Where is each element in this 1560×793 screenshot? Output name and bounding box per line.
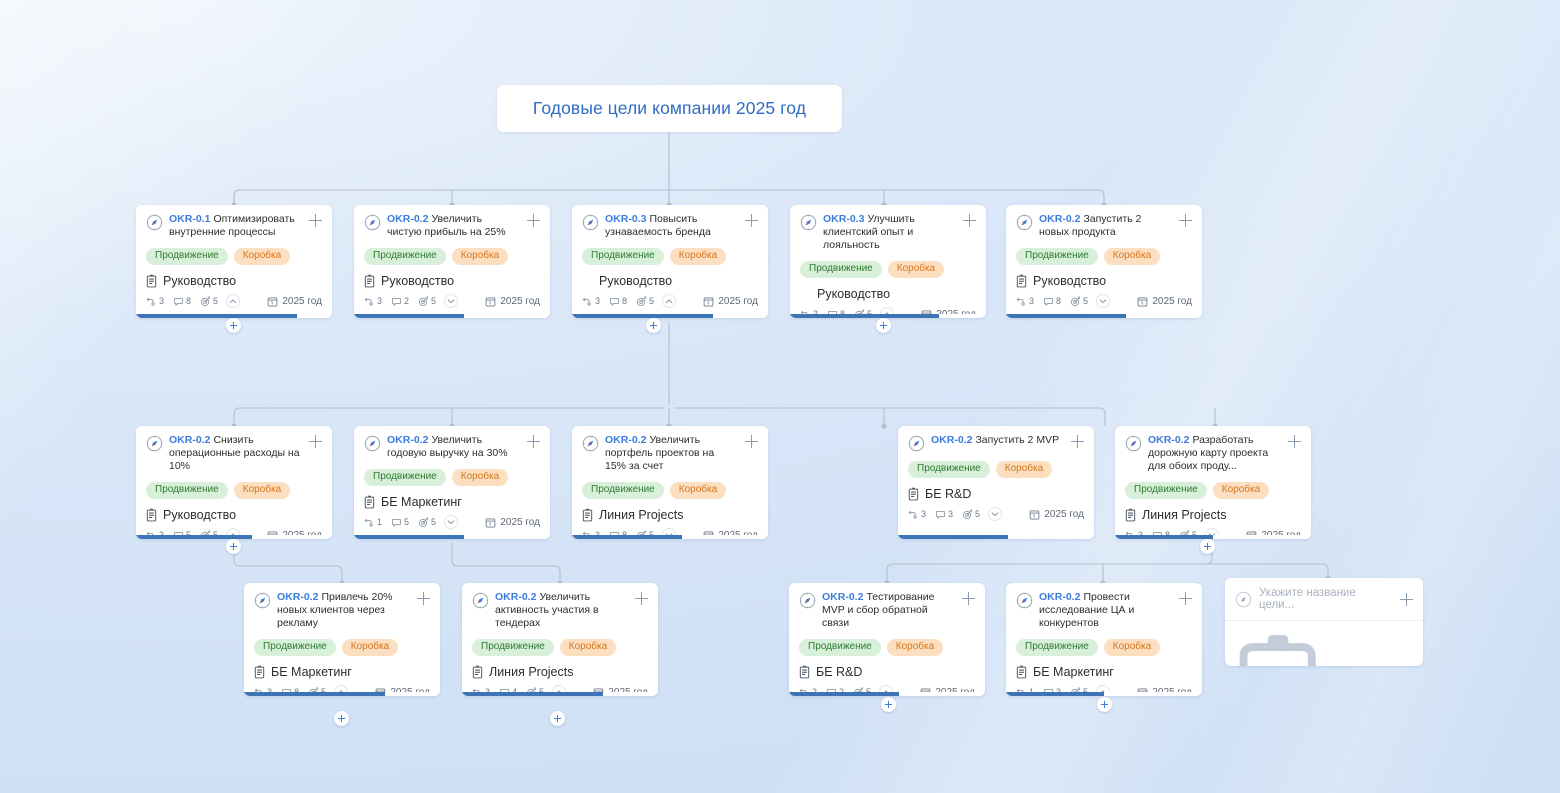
shares-count[interactable]: 3 (1016, 296, 1034, 307)
tag-promotion[interactable]: Продвижение (582, 248, 664, 265)
goal-period: 2025 год (485, 296, 540, 307)
goal-card-title: OKR-0.2Тестирование MVP и сбор обратной … (822, 591, 956, 630)
chevron-down-icon (446, 518, 456, 527)
tag-box[interactable]: Коробка (888, 261, 944, 278)
goal-unit-row: Руководство (146, 508, 322, 522)
goal-unit-label: Линия Projects (1142, 508, 1226, 522)
tag-box[interactable]: Коробка (670, 248, 726, 265)
goal-code: OKR-0.2 (169, 434, 210, 446)
add-goal-button[interactable] (550, 711, 565, 726)
targets-count[interactable]: 5 (1070, 296, 1088, 307)
goal-unit-label: БЕ Маркетинг (1033, 665, 1114, 679)
comments-count[interactable]: 2 (391, 296, 409, 307)
structure-unit-icon (364, 274, 375, 288)
plus-icon[interactable] (1400, 593, 1413, 606)
shares-value: 3 (921, 509, 926, 519)
shares-count[interactable]: 3 (364, 296, 382, 307)
comments-value: 5 (404, 517, 409, 527)
goal-card[interactable]: OKR-0.1Оптимизировать внутренние процесс… (136, 205, 332, 318)
goal-card-title: OKR-0.2Увеличить активность участия в те… (495, 591, 629, 630)
goal-card[interactable]: OKR-0.2Снизить операционные расходы на 1… (136, 426, 332, 539)
goal-card-title: OKR-0.2Разработать дорожную карту проект… (1148, 434, 1282, 473)
new-goal-name-placeholder: Укажите название цели... (1259, 587, 1386, 611)
goal-progress-bar (898, 535, 1094, 539)
add-subgoal-icon[interactable] (962, 592, 975, 605)
goal-code: OKR-0.2 (387, 434, 428, 446)
structure-unit-icon (1125, 508, 1136, 522)
goal-card-title: OKR-0.2Запустить 2 новых продукта (1039, 213, 1173, 239)
tag-promotion[interactable]: Продвижение (582, 482, 664, 499)
target-compass-icon (254, 592, 271, 609)
structure-unit-icon (254, 665, 265, 679)
shares-value: 3 (595, 296, 600, 306)
comments-count[interactable]: 8 (173, 296, 191, 307)
goal-period-label: 2025 год (1044, 509, 1084, 520)
add-subgoal-icon[interactable] (417, 592, 430, 605)
goal-period-label: 2025 год (282, 296, 322, 307)
goal-unit-label: Руководство (163, 508, 236, 522)
add-subgoal-icon[interactable] (527, 435, 540, 448)
goal-card-title: OKR-0.2Снизить операционные расходы на 1… (169, 434, 303, 473)
share-icon (582, 296, 593, 307)
tag-box[interactable]: Коробка (234, 248, 290, 265)
goal-code: OKR-0.2 (931, 434, 972, 446)
structure-unit-icon (582, 508, 593, 522)
targets-value: 5 (1083, 296, 1088, 306)
tag-promotion[interactable]: Продвижение (146, 482, 228, 499)
okr-tree-canvas: Годовые цели компании 2025 год OKR-0.1Оп… (0, 0, 1560, 793)
goal-tags: ПродвижениеКоробка (254, 639, 430, 656)
structure-unit-icon (472, 665, 483, 679)
add-goal-button[interactable] (226, 318, 241, 333)
shares-value: 3 (159, 296, 164, 306)
goal-unit-row: Руководство (364, 274, 540, 288)
comments-value: 8 (622, 296, 627, 306)
goal-meta-row: 3252025 год (364, 294, 540, 308)
calendar-icon (703, 296, 714, 307)
target-compass-icon (1125, 435, 1142, 452)
goal-period: 2025 год (703, 296, 758, 307)
add-subgoal-icon[interactable] (309, 214, 322, 227)
collapse-toggle[interactable] (444, 515, 458, 529)
shares-count[interactable]: 3 (146, 296, 164, 307)
goal-card-header: OKR-0.2Запустить 2 MVP (908, 434, 1084, 452)
goal-unit-row: БЕ Маркетинг (364, 495, 540, 509)
goal-card[interactable]: OKR-0.2Тестирование MVP и сбор обратной … (789, 583, 985, 696)
goal-progress-bar (354, 535, 550, 539)
goal-period: 2025 год (1029, 509, 1084, 520)
goal-card-header: OKR-0.2Тестирование MVP и сбор обратной … (799, 591, 975, 630)
new-goal-name-row[interactable]: Укажите название цели... (1225, 578, 1423, 620)
structure-unit-icon (799, 665, 810, 679)
goal-period-label: 2025 год (718, 296, 758, 307)
calendar-icon (267, 296, 278, 307)
target-compass-icon (472, 592, 489, 609)
add-subgoal-icon[interactable] (1071, 435, 1084, 448)
target-icon (418, 296, 429, 307)
add-goal-button[interactable] (334, 711, 349, 726)
goal-card[interactable]: OKR-0.2Увеличить портфель проектов на 15… (572, 426, 768, 539)
structure-unit-icon (1235, 630, 1320, 666)
tag-box[interactable]: Коробка (887, 639, 943, 656)
goal-card-header: OKR-0.2Увеличить годовую выручку на 30% (364, 434, 540, 460)
add-subgoal-icon[interactable] (527, 214, 540, 227)
goal-card[interactable]: OKR-0.2Привлечь 20% новых клиентов через… (244, 583, 440, 696)
goal-card-header: OKR-0.2Провести исследование ЦА и конкур… (1016, 591, 1192, 630)
collapse-toggle[interactable] (662, 294, 676, 308)
comment-icon (173, 296, 184, 307)
add-subgoal-icon[interactable] (745, 214, 758, 227)
goal-card-header: OKR-0.2Увеличить чистую прибыль на 25% (364, 213, 540, 239)
share-icon (1016, 296, 1027, 307)
goal-tags: ПродвижениеКоробка (472, 639, 648, 656)
share-icon (364, 517, 375, 528)
goal-card[interactable]: OKR-0.2Увеличить годовую выручку на 30%П… (354, 426, 550, 539)
goal-tags: ПродвижениеКоробка (364, 248, 540, 265)
goal-card-header: OKR-0.3Улучшить клиентский опыт и лояльн… (800, 213, 976, 252)
goal-tags: ПродвижениеКоробка (364, 469, 540, 486)
tag-promotion[interactable]: Продвижение (146, 248, 228, 265)
goal-tags: ПродвижениеКоробка (799, 639, 975, 656)
targets-count[interactable]: 5 (962, 509, 980, 520)
tag-promotion[interactable]: Продвижение (908, 461, 990, 478)
goal-tags: ПродвижениеКоробка (146, 248, 322, 265)
structure-unit-icon (146, 508, 157, 522)
tag-promotion[interactable]: Продвижение (364, 248, 446, 265)
goal-unit-row: БЕ R&D (799, 665, 975, 679)
goal-progress-bar (462, 692, 658, 696)
goal-unit-label: БЕ Маркетинг (271, 665, 352, 679)
goal-tags: ПродвижениеКоробка (582, 482, 758, 499)
goal-unit-row: Руководство (1016, 274, 1192, 288)
goal-unit-row: Линия Projects (582, 508, 758, 522)
comment-icon (391, 517, 402, 528)
chevron-down-icon (446, 297, 456, 306)
goal-code: OKR-0.3 (605, 213, 646, 225)
goal-meta-row: 3352025 год (908, 507, 1084, 521)
goal-card[interactable]: OKR-0.2Разработать дорожную карту проект… (1115, 426, 1311, 539)
goal-unit-label: БЕ R&D (816, 665, 862, 679)
goal-card[interactable]: OKR-0.3Повысить узнаваемость брендаПродв… (572, 205, 768, 318)
target-compass-icon (364, 435, 381, 452)
comments-count[interactable]: 5 (391, 517, 409, 528)
add-goal-button[interactable] (1097, 697, 1112, 712)
target-compass-icon (146, 435, 163, 452)
goal-code: OKR-0.2 (387, 213, 428, 225)
goal-unit-row: БЕ Маркетинг (1016, 665, 1192, 679)
goal-unit-label: Руководство (817, 287, 890, 301)
goal-tags: ПродвижениеКоробка (146, 482, 322, 499)
goal-card[interactable]: OKR-0.3Улучшить клиентский опыт и лояльн… (790, 205, 986, 318)
target-compass-icon (800, 214, 817, 231)
comment-icon (935, 509, 946, 520)
tag-box[interactable]: Коробка (1213, 482, 1269, 499)
structure-unit-icon (146, 274, 157, 288)
goal-card-header: OKR-0.3Повысить узнаваемость бренда (582, 213, 758, 239)
goal-code: OKR-0.2 (1039, 213, 1080, 225)
goal-card-title: OKR-0.2Увеличить годовую выручку на 30% (387, 434, 521, 460)
goal-code: OKR-0.2 (277, 591, 318, 603)
goal-card-header: OKR-0.2Разработать дорожную карту проект… (1125, 434, 1301, 473)
goal-code: OKR-0.2 (495, 591, 536, 603)
goal-unit-label: Линия Projects (599, 508, 683, 522)
goal-unit-label: Руководство (1033, 274, 1106, 288)
goal-tags: ПродвижениеКоробка (1125, 482, 1301, 499)
goal-card[interactable]: OKR-0.2Увеличить активность участия в те… (462, 583, 658, 696)
tag-promotion[interactable]: Продвижение (799, 639, 881, 656)
add-subgoal-icon[interactable] (309, 435, 322, 448)
goal-card-header: OKR-0.2Привлечь 20% новых клиентов через… (254, 591, 430, 630)
new-goal-unit-row[interactable]: Выберите структурную единицу... (1225, 620, 1423, 666)
shares-value: 1 (377, 517, 382, 527)
comments-count[interactable]: 8 (1043, 296, 1061, 307)
goal-meta-row: 3852025 год (146, 294, 322, 308)
shares-count[interactable]: 1 (364, 517, 382, 528)
goal-period: 2025 год (1137, 296, 1192, 307)
root-goal-title: Годовые цели компании 2025 год (533, 98, 806, 119)
tag-promotion[interactable]: Продвижение (472, 639, 554, 656)
share-icon (146, 296, 157, 307)
tag-promotion[interactable]: Продвижение (254, 639, 336, 656)
goal-progress-bar (572, 535, 768, 539)
shares-count[interactable]: 3 (908, 509, 926, 520)
shares-value: 3 (1029, 296, 1034, 306)
goal-unit-row: Руководство (800, 287, 976, 301)
chevron-down-icon (1098, 297, 1108, 306)
comment-icon (609, 296, 620, 307)
goal-unit-row: Руководство (146, 274, 322, 288)
targets-value: 5 (975, 509, 980, 519)
target-icon (200, 296, 211, 307)
target-compass-icon (146, 214, 163, 231)
goal-card-title: OKR-0.2Увеличить чистую прибыль на 25% (387, 213, 521, 239)
goal-card-title: OKR-0.1Оптимизировать внутренние процесс… (169, 213, 303, 239)
goal-progress-bar (790, 314, 986, 318)
goal-tags: ПродвижениеКоробка (1016, 639, 1192, 656)
goal-unit-row: Руководство (582, 274, 758, 288)
goal-period-label: 2025 год (1152, 296, 1192, 307)
goal-card-header: OKR-0.2Увеличить активность участия в те… (472, 591, 648, 630)
add-subgoal-icon[interactable] (745, 435, 758, 448)
goal-period-label: 2025 год (500, 517, 540, 528)
target-icon (962, 509, 973, 520)
goal-code: OKR-0.2 (605, 434, 646, 446)
goal-progress-bar (1006, 314, 1202, 318)
goal-card-title: OKR-0.2Привлечь 20% новых клиентов через… (277, 591, 411, 630)
goal-card-header: OKR-0.2Увеличить портфель проектов на 15… (582, 434, 758, 473)
add-subgoal-icon[interactable] (1179, 592, 1192, 605)
collapse-toggle[interactable] (1096, 294, 1110, 308)
goal-progress-bar (1006, 692, 1202, 696)
goal-card-header: OKR-0.1Оптимизировать внутренние процесс… (146, 213, 322, 239)
goal-card-title: OKR-0.3Улучшить клиентский опыт и лояльн… (823, 213, 957, 252)
share-icon (364, 296, 375, 307)
new-goal-card[interactable]: Укажите название цели... Выберите структ… (1225, 578, 1423, 666)
chevron-down-icon (990, 510, 1000, 519)
add-goal-button[interactable] (881, 697, 896, 712)
goal-unit-label: Руководство (599, 274, 672, 288)
goal-code: OKR-0.1 (169, 213, 210, 225)
goal-card[interactable]: OKR-0.2Увеличить чистую прибыль на 25%Пр… (354, 205, 550, 318)
structure-unit-icon (364, 495, 375, 509)
target-compass-icon (908, 435, 925, 452)
goal-unit-row: Линия Projects (472, 665, 648, 679)
goal-progress-bar (1115, 535, 1311, 539)
add-subgoal-icon[interactable] (1288, 435, 1301, 448)
goal-period: 2025 год (267, 296, 322, 307)
goal-card[interactable]: OKR-0.2Запустить 2 новых продуктаПродвиж… (1006, 205, 1202, 318)
goal-card[interactable]: OKR-0.2Провести исследование ЦА и конкур… (1006, 583, 1202, 696)
targets-value: 5 (431, 517, 436, 527)
goal-tags: ПродвижениеКоробка (1016, 248, 1192, 265)
shares-value: 3 (377, 296, 382, 306)
comments-value: 8 (186, 296, 191, 306)
goal-tags: ПродвижениеКоробка (582, 248, 758, 265)
comments-count[interactable]: 8 (609, 296, 627, 307)
tag-box[interactable]: Коробка (670, 482, 726, 499)
structure-unit-icon (1016, 665, 1027, 679)
target-compass-icon (582, 435, 599, 452)
tag-box[interactable]: Коробка (234, 482, 290, 499)
calendar-icon (485, 517, 496, 528)
calendar-icon (1029, 509, 1040, 520)
tag-box[interactable]: Коробка (560, 639, 616, 656)
goal-unit-label: Руководство (163, 274, 236, 288)
add-goal-button[interactable] (646, 318, 661, 333)
target-compass-icon (364, 214, 381, 231)
goal-unit-label: БЕ Маркетинг (381, 495, 462, 509)
goal-card-title: OKR-0.2Запустить 2 MVP (931, 434, 1065, 447)
comments-value: 8 (1056, 296, 1061, 306)
target-compass-icon (582, 214, 599, 231)
comments-count[interactable]: 3 (935, 509, 953, 520)
tag-promotion[interactable]: Продвижение (800, 261, 882, 278)
add-goal-button[interactable] (226, 539, 241, 554)
target-icon (418, 517, 429, 528)
comment-icon (1043, 296, 1054, 307)
tag-promotion[interactable]: Продвижение (1125, 482, 1207, 499)
goal-progress-bar (789, 692, 985, 696)
goal-tags: ПродвижениеКоробка (800, 261, 976, 278)
collapse-toggle[interactable] (226, 294, 240, 308)
targets-value: 5 (431, 296, 436, 306)
target-icon (636, 296, 647, 307)
goal-card-header: OKR-0.2Запустить 2 новых продукта (1016, 213, 1192, 239)
goal-unit-label: Руководство (381, 274, 454, 288)
shares-count[interactable]: 3 (582, 296, 600, 307)
collapse-toggle[interactable] (988, 507, 1002, 521)
goal-title-text: Запустить 2 MVP (975, 434, 1059, 446)
tag-box[interactable]: Коробка (996, 461, 1052, 478)
target-icon (1070, 296, 1081, 307)
tag-promotion[interactable]: Продвижение (364, 469, 446, 486)
goal-card-title: OKR-0.2Увеличить портфель проектов на 15… (605, 434, 739, 473)
goal-meta-row: 3852025 год (1016, 294, 1192, 308)
goal-tags: ПродвижениеКоробка (908, 461, 1084, 478)
goal-unit-label: БЕ R&D (925, 487, 971, 501)
goal-meta-row: 1552025 год (364, 515, 540, 529)
target-compass-icon (1016, 214, 1033, 231)
add-subgoal-icon[interactable] (963, 214, 976, 227)
goal-card[interactable]: OKR-0.2Запустить 2 MVPПродвижениеКоробка… (898, 426, 1094, 539)
chevron-up-icon (664, 297, 674, 306)
add-subgoal-icon[interactable] (1179, 214, 1192, 227)
calendar-icon (485, 296, 496, 307)
targets-count[interactable]: 5 (418, 517, 436, 528)
targets-count[interactable]: 5 (636, 296, 654, 307)
add-goal-button[interactable] (1200, 539, 1215, 554)
comment-icon (391, 296, 402, 307)
goal-unit-row: БЕ R&D (908, 487, 1084, 501)
goal-progress-bar (572, 314, 768, 318)
root-goal-node[interactable]: Годовые цели компании 2025 год (497, 85, 842, 132)
target-compass-icon (1016, 592, 1033, 609)
tag-promotion[interactable]: Продвижение (1016, 248, 1098, 265)
comments-value: 3 (948, 509, 953, 519)
goal-progress-bar (244, 692, 440, 696)
goal-unit-row: БЕ Маркетинг (254, 665, 430, 679)
comments-value: 2 (404, 296, 409, 306)
goal-card-title: OKR-0.3Повысить узнаваемость бренда (605, 213, 739, 239)
targets-value: 5 (649, 296, 654, 306)
target-compass-icon (799, 592, 816, 609)
structure-unit-icon (1016, 274, 1027, 288)
add-subgoal-icon[interactable] (635, 592, 648, 605)
add-goal-button[interactable] (876, 318, 891, 333)
goal-progress-bar (354, 314, 550, 318)
targets-count[interactable]: 5 (418, 296, 436, 307)
tag-box[interactable]: Коробка (342, 639, 398, 656)
goal-code: OKR-0.2 (1039, 591, 1080, 603)
tag-promotion[interactable]: Продвижение (1016, 639, 1098, 656)
tag-box[interactable]: Коробка (1104, 639, 1160, 656)
calendar-icon (1137, 296, 1148, 307)
target-compass-icon (1235, 591, 1252, 608)
collapse-toggle[interactable] (444, 294, 458, 308)
goal-unit-row: Линия Projects (1125, 508, 1301, 522)
targets-count[interactable]: 5 (200, 296, 218, 307)
tag-box[interactable]: Коробка (1104, 248, 1160, 265)
goal-unit-label: Линия Projects (489, 665, 573, 679)
goal-card-header: OKR-0.2Снизить операционные расходы на 1… (146, 434, 322, 473)
goal-card-title: OKR-0.2Провести исследование ЦА и конкур… (1039, 591, 1173, 630)
goal-period-label: 2025 год (500, 296, 540, 307)
goal-code: OKR-0.2 (1148, 434, 1189, 446)
goal-code: OKR-0.3 (823, 213, 864, 225)
goal-period: 2025 год (485, 517, 540, 528)
structure-unit-icon (908, 487, 919, 501)
share-icon (908, 509, 919, 520)
chevron-up-icon (228, 297, 238, 306)
goal-code: OKR-0.2 (822, 591, 863, 603)
targets-value: 5 (213, 296, 218, 306)
tag-box[interactable]: Коробка (452, 469, 508, 486)
tag-box[interactable]: Коробка (452, 248, 508, 265)
goal-meta-row: 3852025 год (582, 294, 758, 308)
